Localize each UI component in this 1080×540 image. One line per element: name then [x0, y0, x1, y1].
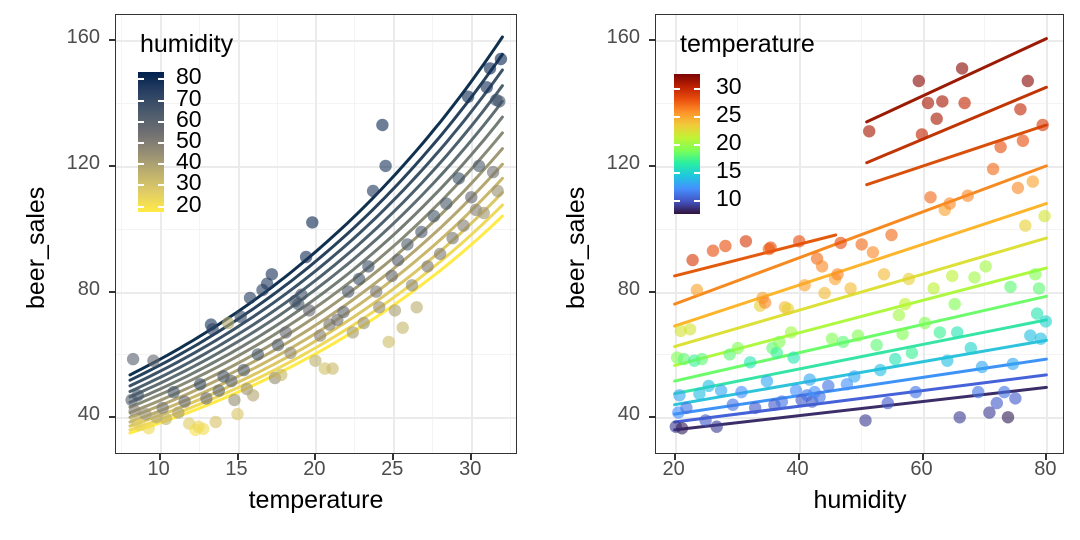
scatter-point — [495, 53, 507, 65]
colorbar-tick — [158, 121, 164, 123]
scatter-point — [951, 326, 963, 338]
scatter-point — [428, 210, 440, 222]
scatter-point — [707, 245, 719, 257]
scatter-point — [703, 380, 715, 392]
scatter-point — [386, 270, 398, 282]
colorbar-tick-label: 10 — [716, 185, 742, 212]
scatter-point — [799, 279, 811, 291]
scatter-point — [421, 260, 433, 272]
scatter-point — [859, 414, 871, 426]
scatter-point — [379, 160, 391, 172]
scatter-point — [976, 361, 988, 373]
y-tick-label: 80 — [570, 278, 640, 301]
scatter-point — [434, 248, 446, 260]
scatter-point — [680, 402, 692, 414]
scatter-point — [826, 333, 838, 345]
scatter-point — [353, 273, 365, 285]
scatter-point — [132, 389, 144, 401]
scatter-point — [487, 166, 499, 178]
scatter-point — [1038, 210, 1050, 222]
scatter-point — [473, 160, 485, 172]
scatter-point — [1022, 75, 1034, 87]
colorbar-tick — [694, 144, 700, 146]
scatter-point — [401, 238, 413, 250]
colorbar-tick-label: 15 — [716, 157, 742, 184]
scatter-point — [1019, 219, 1031, 231]
scatter-point — [326, 362, 338, 374]
scatter-point — [793, 235, 805, 247]
scatter-point — [924, 191, 936, 203]
scatter-point — [157, 402, 169, 414]
scatter-point — [934, 326, 946, 338]
scatter-point — [994, 141, 1006, 153]
scatter-point — [280, 326, 292, 338]
colorbar-tick — [674, 88, 680, 90]
colorbar-tick — [138, 78, 144, 80]
scatter-point — [314, 329, 326, 341]
scatter-point — [247, 389, 259, 401]
scatter-point — [987, 163, 999, 175]
scatter-point — [686, 254, 698, 266]
scatter-point — [1029, 268, 1041, 280]
y-tick-mark — [109, 291, 115, 293]
scatter-point — [761, 375, 773, 387]
scatter-point — [300, 251, 312, 263]
scatter-point — [306, 216, 318, 228]
colorbar-tick-label: 25 — [716, 101, 742, 128]
scatter-point — [478, 207, 490, 219]
x-tick-label: 60 — [892, 458, 952, 481]
scatter-point — [885, 229, 897, 241]
scatter-point — [206, 323, 218, 335]
scatter-point — [719, 240, 731, 252]
scatter-point — [906, 347, 918, 359]
colorbar-tick-label: 30 — [716, 73, 742, 100]
colorbar-tick — [138, 206, 144, 208]
y-tick-label: 120 — [30, 152, 100, 175]
colorbar-temperature — [674, 74, 700, 214]
scatter-point — [916, 128, 928, 140]
scatter-point — [852, 329, 864, 341]
scatter-point — [910, 386, 922, 398]
scatter-point — [764, 241, 776, 253]
scatter-point — [228, 394, 240, 406]
scatter-point — [465, 191, 477, 203]
scatter-point — [958, 97, 970, 109]
scatter-point — [863, 125, 875, 137]
x-tick-label: 10 — [129, 458, 189, 481]
scatter-point — [991, 397, 1003, 409]
colorbar-tick — [138, 100, 144, 102]
scatter-point — [1037, 119, 1049, 131]
scatter-point — [143, 422, 155, 434]
scatter-point — [284, 347, 296, 359]
scatter-point — [835, 237, 847, 249]
scatter-point — [370, 285, 382, 297]
colorbar-tick — [158, 184, 164, 186]
scatter-point — [782, 303, 794, 315]
scatter-point — [1017, 135, 1029, 147]
scatter-point — [913, 75, 925, 87]
x-tick-label: 40 — [768, 458, 828, 481]
colorbar-tick — [158, 206, 164, 208]
x-axis-title-left: temperature — [166, 486, 466, 515]
legend-title-humidity: humidity — [140, 30, 233, 59]
y-tick-label: 40 — [570, 403, 640, 426]
scatter-point — [749, 402, 761, 414]
colorbar-tick — [694, 172, 700, 174]
scatter-point — [194, 378, 206, 390]
x-tick-label: 80 — [1015, 458, 1075, 481]
x-tick-label: 20 — [644, 458, 704, 481]
colorbar-tick — [138, 163, 144, 165]
scatter-point — [696, 353, 708, 365]
scatter-point — [787, 351, 799, 363]
scatter-point — [1014, 103, 1026, 115]
scatter-point — [874, 364, 886, 376]
x-tick-label: 15 — [207, 458, 267, 481]
scatter-point — [954, 411, 966, 423]
scatter-point — [936, 95, 948, 107]
scatter-point — [831, 268, 843, 280]
scatter-point — [856, 238, 868, 250]
scatter-point — [244, 292, 256, 304]
y-tick-mark — [649, 39, 655, 41]
scatter-point — [870, 339, 882, 351]
panel-right: beer_sales humidity 204060804080120160 t… — [540, 0, 1080, 540]
scatter-point — [893, 309, 905, 321]
scatter-point — [1012, 182, 1024, 194]
scatter-point — [397, 322, 409, 334]
y-tick-mark — [109, 39, 115, 41]
y-tick-label: 40 — [30, 403, 100, 426]
colorbar-tick — [158, 100, 164, 102]
y-tick-mark — [649, 291, 655, 293]
scatter-point — [213, 384, 225, 396]
scatter-point — [252, 348, 264, 360]
scatter-point — [896, 328, 908, 340]
scatter-point — [998, 386, 1010, 398]
scatter-point — [1009, 392, 1021, 404]
scatter-point — [946, 270, 958, 282]
scatter-point — [457, 219, 469, 231]
colorbar-tick — [158, 142, 164, 144]
panel-left: beer_sales temperature 10152025304080120… — [0, 0, 540, 540]
colorbar-tick — [138, 184, 144, 186]
scatter-point — [272, 339, 284, 351]
scatter-point — [147, 355, 159, 367]
colorbar-tick — [138, 142, 144, 144]
scatter-point — [744, 356, 756, 368]
scatter-point — [238, 364, 250, 376]
figure-root: beer_sales temperature 10152025304080120… — [0, 0, 1080, 540]
scatter-point — [446, 232, 458, 244]
scatter-point — [266, 268, 278, 280]
scatter-point — [972, 386, 984, 398]
scatter-point — [225, 375, 237, 387]
scatter-point — [848, 370, 860, 382]
scatter-point — [1007, 358, 1019, 370]
scatter-point — [1040, 315, 1052, 327]
scatter-point — [358, 317, 370, 329]
scatter-point — [139, 408, 151, 420]
scatter-point — [347, 326, 359, 338]
scatter-point — [1027, 175, 1039, 187]
scatter-point — [493, 95, 505, 107]
scatter-point — [699, 414, 711, 426]
scatter-point — [776, 395, 788, 407]
scatter-point — [406, 279, 418, 291]
scatter-point — [440, 197, 452, 209]
colorbar-tick-label: 20 — [716, 129, 742, 156]
y-tick-label: 80 — [30, 278, 100, 301]
scatter-point — [927, 282, 939, 294]
scatter-point — [922, 97, 934, 109]
scatter-point — [178, 395, 190, 407]
x-tick-label: 25 — [362, 458, 422, 481]
y-tick-mark — [649, 416, 655, 418]
scatter-point — [492, 185, 504, 197]
scatter-point — [941, 355, 953, 367]
scatter-point — [303, 304, 315, 316]
scatter-point — [367, 185, 379, 197]
scatter-point — [759, 296, 771, 308]
scatter-point — [1004, 281, 1016, 293]
scatter-point — [1033, 282, 1045, 294]
scatter-point — [944, 197, 956, 209]
scatter-point — [1024, 329, 1036, 341]
x-tick-label: 20 — [284, 458, 344, 481]
scatter-point — [773, 336, 785, 348]
scatter-point — [878, 268, 890, 280]
scatter-point — [816, 260, 828, 272]
legend-title-temperature: temperature — [680, 30, 815, 59]
scatter-point — [804, 373, 816, 385]
scatter-point — [735, 386, 747, 398]
scatter-point — [231, 408, 243, 420]
scatter-point — [373, 301, 385, 313]
scatter-point — [168, 386, 180, 398]
scatter-point — [844, 282, 856, 294]
scatter-point — [949, 298, 961, 310]
colorbar-tick — [674, 116, 680, 118]
scatter-point — [275, 369, 287, 381]
scatter-point — [389, 304, 401, 316]
scatter-point — [980, 260, 992, 272]
scatter-point — [376, 119, 388, 131]
colorbar-tick — [158, 78, 164, 80]
scatter-point — [727, 399, 739, 411]
scatter-point — [295, 289, 307, 301]
scatter-point — [882, 397, 894, 409]
colorbar-tick — [674, 200, 680, 202]
scatter-point — [684, 323, 696, 335]
scatter-point — [867, 246, 879, 258]
scatter-point — [342, 285, 354, 297]
scatter-point — [200, 392, 212, 404]
scatter-point — [931, 113, 943, 125]
colorbar-humidity — [138, 72, 164, 212]
colorbar-tick — [674, 144, 680, 146]
x-axis-title-right: humidity — [710, 486, 1010, 515]
scatter-point — [822, 380, 834, 392]
scatter-point — [362, 260, 374, 272]
scatter-point — [732, 342, 744, 354]
scatter-point — [197, 423, 209, 435]
scatter-point — [678, 353, 690, 365]
colorbar-tick — [158, 163, 164, 165]
scatter-point — [889, 353, 901, 365]
y-tick-label: 120 — [570, 152, 640, 175]
colorbar-tick — [138, 121, 144, 123]
scatter-point — [172, 406, 184, 418]
scatter-point — [691, 284, 703, 296]
colorbar-tick-label: 80 — [176, 63, 202, 90]
scatter-point — [715, 384, 727, 396]
scatter-point — [962, 190, 974, 202]
scatter-point — [968, 271, 980, 283]
scatter-point — [484, 62, 496, 74]
scatter-point — [818, 287, 830, 299]
scatter-point — [210, 416, 222, 428]
colorbar-tick — [694, 116, 700, 118]
x-tick-label: 30 — [440, 458, 500, 481]
y-tick-label: 160 — [30, 26, 100, 49]
scatter-point — [899, 298, 911, 310]
scatter-point — [711, 421, 723, 433]
scatter-point — [785, 326, 797, 338]
scatter-point — [837, 336, 849, 348]
scatter-point — [956, 62, 968, 74]
scatter-point — [740, 235, 752, 247]
y-tick-mark — [649, 165, 655, 167]
scatter-point — [673, 389, 685, 401]
scatter-point — [235, 311, 247, 323]
scatter-point — [411, 301, 423, 313]
scatter-point — [415, 226, 427, 238]
scatter-point — [481, 81, 493, 93]
scatter-point — [1002, 411, 1014, 423]
scatter-point — [903, 273, 915, 285]
scatter-point — [160, 413, 172, 425]
scatter-point — [222, 317, 234, 329]
scatter-point — [676, 422, 688, 434]
y-tick-label: 160 — [570, 26, 640, 49]
scatter-point — [453, 172, 465, 184]
scatter-point — [462, 91, 474, 103]
colorbar-tick — [694, 88, 700, 90]
scatter-point — [383, 336, 395, 348]
scatter-point — [813, 391, 825, 403]
scatter-point — [771, 347, 783, 359]
scatter-point — [965, 342, 977, 354]
scatter-point — [919, 317, 931, 329]
scatter-point — [337, 306, 349, 318]
scatter-point — [127, 353, 139, 365]
colorbar-tick — [674, 172, 680, 174]
scatter-point — [1035, 333, 1047, 345]
y-tick-mark — [109, 416, 115, 418]
y-tick-mark — [109, 165, 115, 167]
scatter-point — [392, 254, 404, 266]
colorbar-tick — [694, 200, 700, 202]
